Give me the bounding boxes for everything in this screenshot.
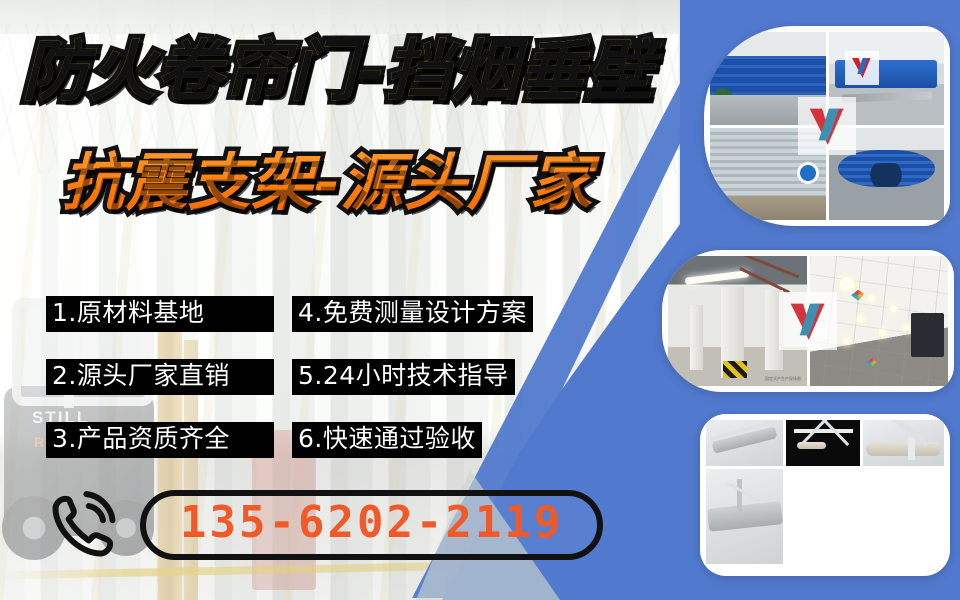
headline-secondary-fill: 抗震支架-源头厂家 (62, 148, 593, 218)
brace-rod (737, 479, 742, 511)
photo-grid-bottom (706, 420, 944, 570)
ceiling-light-tube-icon (684, 270, 748, 284)
downlight-icon (857, 316, 864, 323)
headline-primary: 防火卷帘门-挡烟垂壁防火卷帘门-挡烟垂壁 (22, 36, 653, 108)
photo-card-bottom[interactable] (700, 414, 950, 576)
photo-blue-rolling-shutter-door (710, 32, 826, 125)
feature-item-4: 4.免费测量设计方案 (292, 296, 533, 332)
headline-secondary: 抗震支架-源头厂家抗震支架-源头厂家 (62, 148, 593, 218)
photo-watermark-caption: 固定式产生产现场图 (765, 376, 801, 382)
photo-metal-roller-shutter (710, 128, 826, 221)
pipe-shape (797, 442, 826, 448)
feature-item-2: 2.源头厂家直销 (46, 359, 274, 395)
contact-row[interactable]: 135-6202-2119 (46, 487, 603, 563)
photo-roll-forming-machine (829, 32, 945, 125)
hazard-stripe-marking (723, 361, 747, 378)
phone-number-box[interactable]: 135-6202-2119 (140, 490, 603, 560)
v-logo-watermark-icon (845, 51, 879, 85)
feature-row: 3.产品资质齐全 6.快速通过验收 (46, 422, 556, 458)
feature-list: 1.原材料基地 4.免费测量设计方案 2.源头厂家直销 5.24小时技术指导 3… (46, 296, 556, 485)
brace-bar (794, 429, 853, 433)
photo-card-top[interactable] (704, 26, 950, 226)
photo-blue-coiled-curtain (829, 128, 945, 221)
brace-rod (726, 482, 759, 501)
feature-item-3: 3.产品资质齐全 (46, 422, 274, 458)
downlight-icon (840, 277, 854, 291)
plant-decoration-icon (714, 78, 732, 104)
photo-ceiling-downlights (810, 256, 949, 386)
photo-card-middle[interactable]: 固定式产生产现场图 (662, 250, 954, 392)
wall-display-panel (911, 313, 944, 357)
feature-item-6: 6.快速通过验收 (292, 422, 482, 458)
headline-primary-fill: 防火卷帘门-挡烟垂壁 (22, 36, 653, 108)
photo-grid-top (710, 32, 944, 220)
photo-seismic-brace-ceiling (706, 420, 783, 466)
feature-row: 2.源头厂家直销 5.24小时技术指导 (46, 359, 556, 395)
photo-seismic-brace-large-duct (706, 469, 783, 564)
feature-item-1: 1.原材料基地 (46, 296, 274, 332)
garage-column-right (765, 290, 783, 371)
photo-grid-middle: 固定式产生产现场图 (668, 256, 948, 386)
downlight-icon (879, 329, 886, 336)
photo-seismic-brace-pipe-clamp (863, 420, 944, 466)
phone-number: 135-6202-2119 (180, 497, 563, 548)
garage-column-left (690, 305, 702, 370)
phone-call-icon (46, 487, 122, 563)
feature-item-5: 5.24小时技术指导 (292, 359, 515, 395)
photo-parking-garage-interior: 固定式产生产现场图 (668, 256, 807, 386)
duct-shape (707, 501, 783, 531)
clamp-bar (908, 438, 914, 459)
pipe-shape (866, 442, 941, 456)
shutter-badge-icon (800, 165, 816, 181)
promo-banner: STILL RX-6 防火卷帘门-挡烟垂壁防火卷帘门-挡烟垂壁 抗震支架-源头厂… (0, 0, 960, 600)
downlight-icon (843, 337, 850, 344)
photo-seismic-brace-duct (786, 420, 860, 466)
downlight-icon (868, 295, 875, 302)
feature-row: 1.原材料基地 4.免费测量设计方案 (46, 296, 556, 332)
downlight-icon (904, 324, 911, 331)
